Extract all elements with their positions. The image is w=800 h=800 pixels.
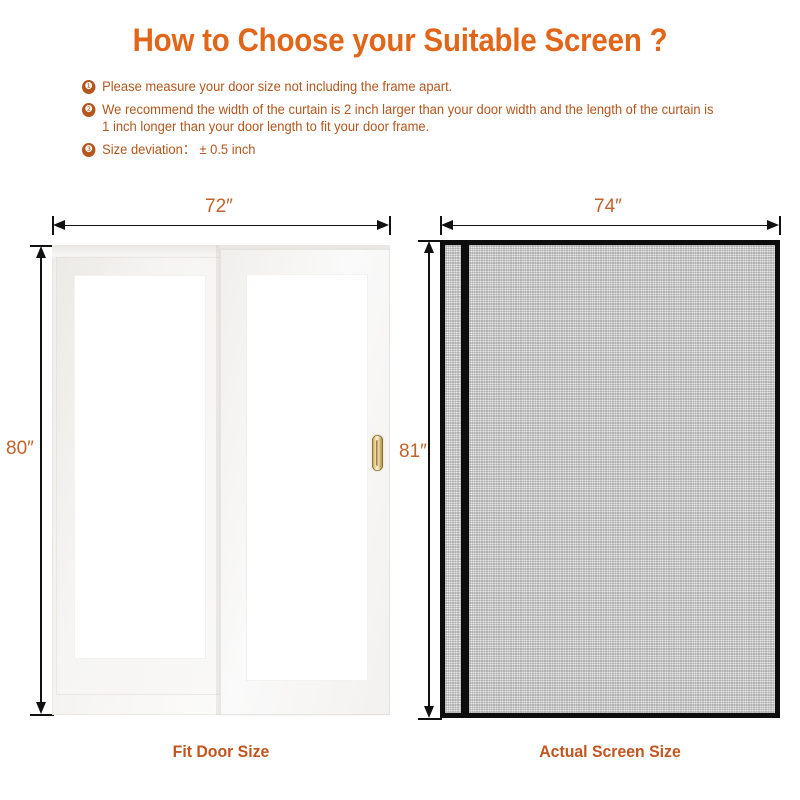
screen-inner [445,245,775,713]
screen-height-tick-bottom [418,718,442,720]
door-panel-right [220,249,390,715]
screen-width-arrow-left-icon [441,220,453,230]
screen-width-arrow-right-icon [767,220,779,230]
door-height-arrow-up-icon [36,246,46,258]
list-item: ❸ Size deviation： ± 0.5 inch [82,141,716,159]
list-item-text: We recommend the width of the curtain is… [102,101,715,136]
door-caption: Fit Door Size [128,742,314,762]
screen-height-arrow-down-icon [424,706,434,718]
sliding-door-illustration [52,245,390,715]
door-panel-left [56,257,222,695]
door-width-arrow-right-icon [377,220,389,230]
list-item: ❷ We recommend the width of the curtain … [82,101,716,136]
list-item-text: Size deviation： ± 0.5 inch [102,141,715,159]
door-height-arrow-down-icon [36,702,46,714]
instruction-list: ❶ Please measure your door size not incl… [82,78,742,163]
door-glass-left [74,275,206,659]
screen-height-label: 81″ [399,441,427,463]
screen-width-dimension-line [444,225,776,227]
screen-height-dimension-line [428,245,430,714]
door-glass-right [246,274,368,681]
bullet-number-icon: ❸ [82,143,95,157]
list-item-text: Please measure your door size not includ… [102,78,715,96]
list-item: ❶ Please measure your door size not incl… [82,78,716,96]
screen-width-tick-right [779,216,781,235]
screen-height-arrow-up-icon [424,241,434,253]
door-height-dimension-line [40,250,42,710]
screen-width-label: 74″ [594,196,622,218]
page-title: How to Choose your Suitable Screen ? [32,22,768,59]
screen-mesh-panel [469,245,775,713]
door-width-dimension-line [56,225,386,227]
door-width-tick-right [389,216,391,235]
door-height-tick-bottom [30,714,54,716]
door-height-label: 80″ [6,438,34,460]
screen-curtain-illustration [440,240,780,718]
door-handle-icon [372,435,383,471]
bullet-number-icon: ❷ [82,103,95,117]
bullet-number-icon: ❶ [82,80,95,94]
door-width-label: 72″ [205,196,233,218]
screen-center-divider [461,245,469,713]
screen-side-flap [445,245,461,713]
door-width-arrow-left-icon [53,220,65,230]
screen-caption: Actual Screen Size [517,742,703,762]
